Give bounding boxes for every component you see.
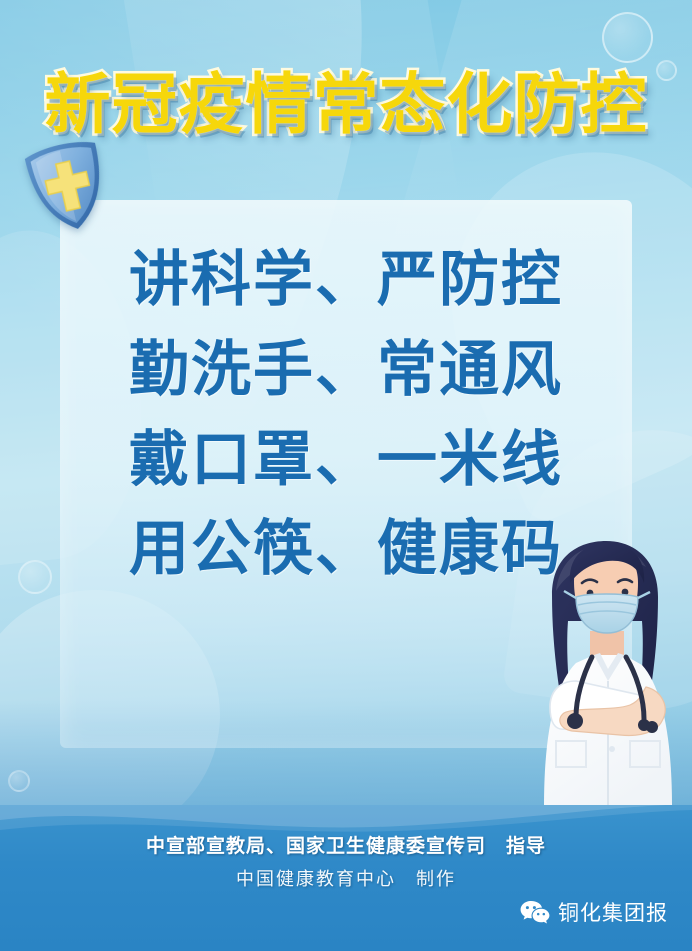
bubble-circle-large [602, 12, 653, 63]
shield-with-cross-icon [16, 130, 119, 242]
slogan-block: 讲科学、严防控 勤洗手、常通风 戴口罩、一米线 用公筷、健康码 [60, 248, 632, 582]
bubble-circle-bottom [8, 770, 30, 792]
wechat-account-name: 铜化集团报 [558, 897, 668, 927]
credit-producer: 中国健康教育中心 制作 [0, 865, 692, 891]
slogan-line-2: 勤洗手、常通风 [129, 338, 563, 403]
wechat-account-tag: 铜化集团报 [520, 897, 668, 927]
slogan-line-1: 讲科学、严防控 [129, 248, 563, 313]
slogan-line-4: 用公筷、健康码 [129, 517, 563, 582]
bubble-circle-left [18, 560, 52, 594]
footer-band: 中宣部宣教局、国家卫生健康委宣传司 指导 中国健康教育中心 制作 铜化集团报 [0, 805, 692, 951]
female-doctor-illustration [520, 535, 692, 807]
slogan-line-3: 戴口罩、一米线 [129, 428, 563, 493]
credit-guidance: 中宣部宣教局、国家卫生健康委宣传司 指导 [0, 831, 692, 858]
page-title: 新冠疫情常态化防控 [0, 72, 692, 138]
wechat-icon [520, 900, 550, 925]
poster-canvas: 新冠疫情常态化防控 讲科学、严防控 勤洗手、常通风 戴口罩、一米线 用公筷、健康… [0, 0, 692, 951]
